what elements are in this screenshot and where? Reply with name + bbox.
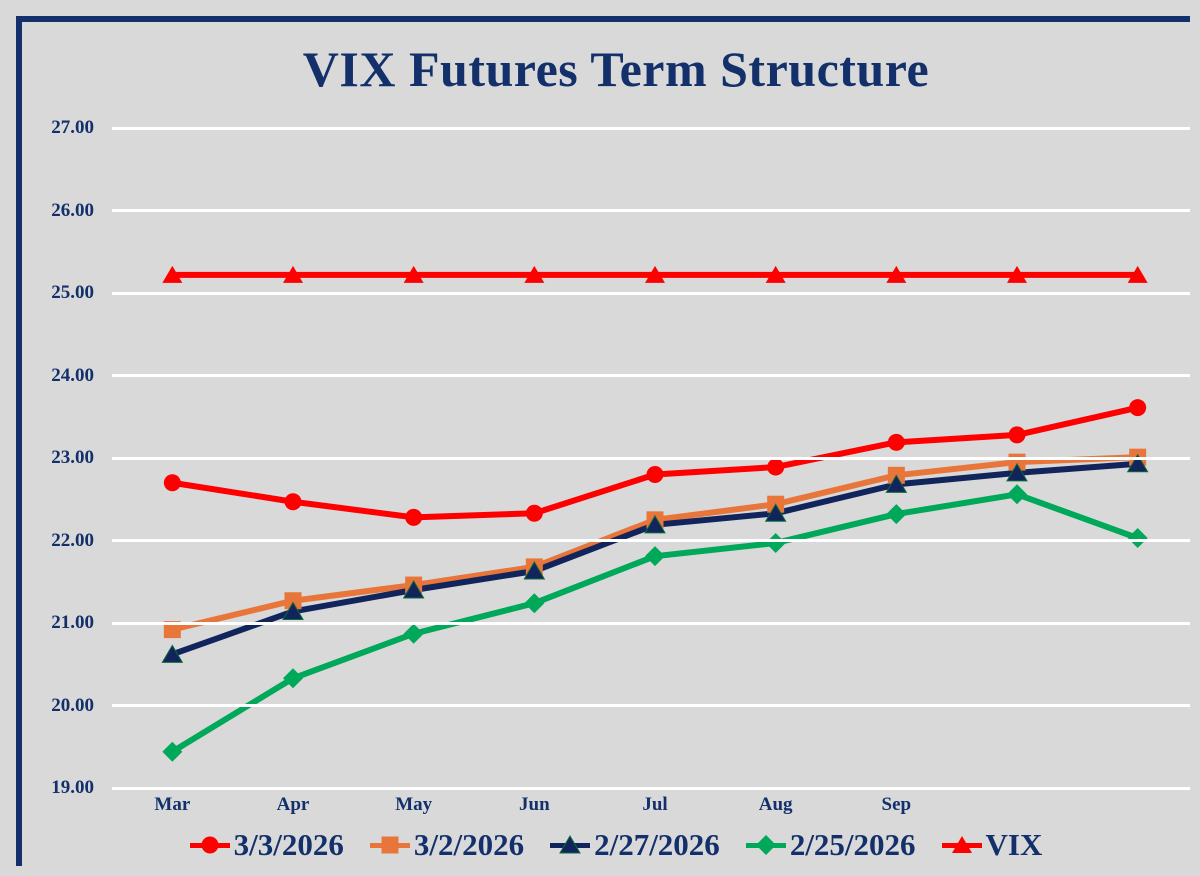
legend-item[interactable]: 2/27/2026	[550, 827, 720, 863]
data-point-marker	[888, 434, 905, 451]
data-point-marker	[405, 509, 422, 526]
legend-label: 2/25/2026	[790, 827, 916, 863]
legend-marker-icon	[550, 832, 590, 858]
data-point-marker	[524, 593, 544, 613]
data-point-marker	[756, 835, 776, 855]
plot-area	[112, 128, 1198, 788]
legend-label: 3/3/2026	[234, 827, 344, 863]
gridline	[112, 539, 1198, 542]
chart-frame: VIX Futures Term Structure @vixologist M…	[16, 16, 1200, 876]
legend-marker-icon	[746, 832, 786, 858]
legend-item[interactable]: 2/25/2026	[746, 827, 916, 863]
data-point-marker	[560, 836, 580, 853]
gridline	[112, 787, 1198, 790]
gridline	[112, 209, 1198, 212]
legend-label: 2/27/2026	[594, 827, 720, 863]
legend-swatch	[550, 832, 590, 858]
x-axis-tick-label: Jul	[642, 794, 667, 816]
gridline	[112, 704, 1198, 707]
y-axis-tick-label: 21.00	[2, 612, 94, 634]
y-axis-tick-label: 20.00	[2, 695, 94, 717]
data-point-marker	[404, 624, 424, 644]
y-axis-tick-label: 22.00	[2, 530, 94, 552]
page-title: VIX Futures Term Structure	[22, 40, 1200, 98]
series-line	[172, 457, 1137, 629]
data-point-marker	[647, 466, 664, 483]
x-axis-tick-label: Jun	[519, 794, 550, 816]
data-point-marker	[766, 533, 786, 553]
legend-marker-icon	[942, 832, 982, 858]
data-point-marker	[767, 459, 784, 476]
data-point-marker	[645, 546, 665, 566]
data-point-marker	[285, 493, 302, 510]
y-axis-tick-label: 26.00	[2, 200, 94, 222]
y-axis-tick-label: 25.00	[2, 282, 94, 304]
x-axis-tick-label: Aug	[759, 794, 793, 816]
data-point-marker	[526, 505, 543, 522]
legend-item[interactable]: 3/3/2026	[190, 827, 344, 863]
chart-window: VIX Futures Term Structure @vixologist M…	[0, 0, 1200, 876]
gridline	[112, 292, 1198, 295]
data-point-marker	[1129, 399, 1146, 416]
data-point-marker	[201, 837, 218, 854]
y-axis-tick-label: 23.00	[2, 447, 94, 469]
gridline	[112, 457, 1198, 460]
legend-swatch	[190, 832, 230, 858]
x-axis-tick-label: Mar	[154, 794, 190, 816]
y-axis-tick-label: 19.00	[2, 777, 94, 799]
legend-item[interactable]: 3/2/2026	[370, 827, 524, 863]
x-axis-tick-label: Apr	[277, 794, 310, 816]
legend-label: 3/2/2026	[414, 827, 524, 863]
x-axis-tick-label: May	[395, 794, 432, 816]
data-point-marker	[952, 836, 972, 853]
legend-swatch	[942, 832, 982, 858]
gridline	[112, 127, 1198, 130]
gridline	[112, 622, 1198, 625]
data-point-marker	[381, 837, 398, 854]
y-axis-tick-label: 24.00	[2, 365, 94, 387]
data-point-marker	[1009, 426, 1026, 443]
legend-label: VIX	[986, 827, 1043, 863]
data-point-marker	[1007, 484, 1027, 504]
legend-item[interactable]: VIX	[942, 827, 1043, 863]
x-axis-tick-label: Sep	[882, 794, 912, 816]
y-axis-tick-label: 27.00	[2, 117, 94, 139]
legend-marker-icon	[370, 832, 410, 858]
gridline	[112, 374, 1198, 377]
legend-marker-icon	[190, 832, 230, 858]
data-point-marker	[886, 504, 906, 524]
chart-legend: 3/3/20263/2/20262/27/20262/25/2026VIX	[22, 827, 1200, 863]
data-point-marker	[164, 474, 181, 491]
legend-swatch	[746, 832, 786, 858]
legend-swatch	[370, 832, 410, 858]
